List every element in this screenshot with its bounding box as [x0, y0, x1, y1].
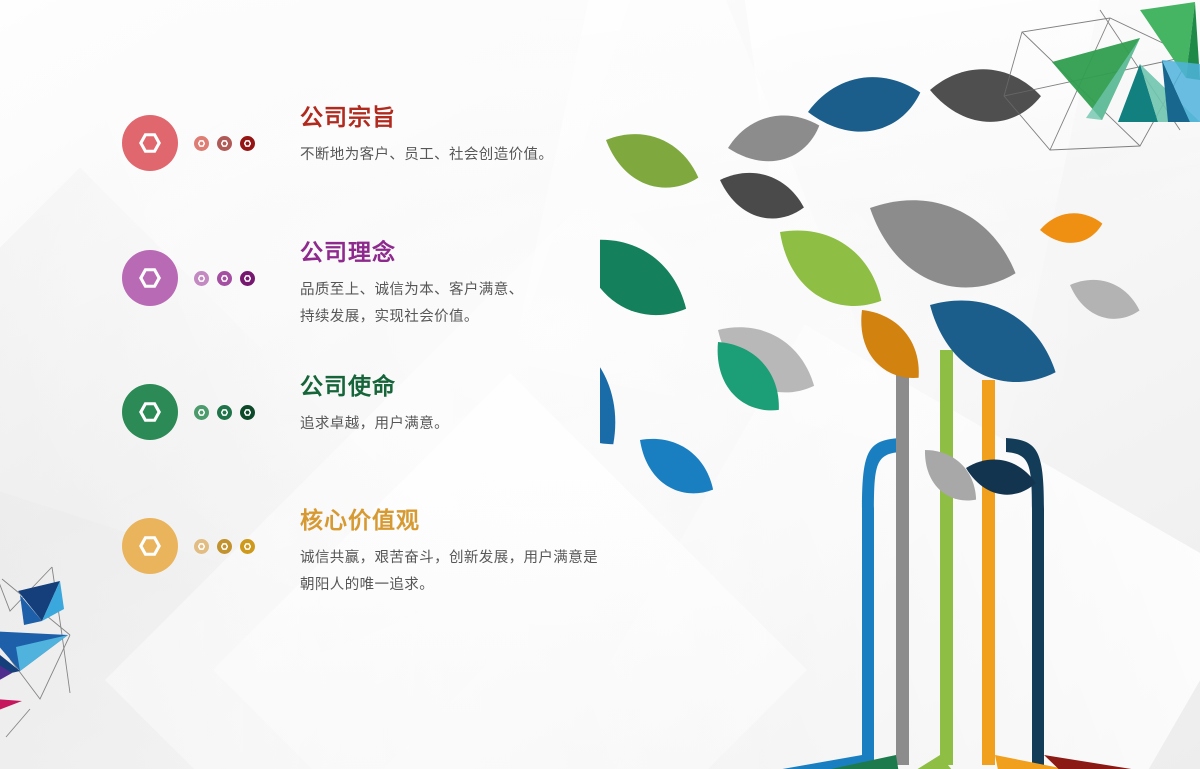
- hexagon-icon-small-1: [194, 136, 209, 151]
- hexagon-icon: [221, 275, 228, 282]
- hexagon-icon-large: [122, 518, 178, 574]
- icon-group-core-values: [122, 511, 263, 581]
- icon-group-company-purpose: [122, 108, 263, 178]
- tree-stems: [720, 350, 1200, 769]
- hexagon-icon-large: [122, 250, 178, 306]
- hexagon-icon-small-2: [217, 136, 232, 151]
- small-dot-row-company-purpose: [194, 136, 263, 151]
- hexagon-icon: [244, 409, 251, 416]
- section-description-line: 持续发展，实现社会价值。: [300, 304, 680, 331]
- section-description-line: 品质至上、诚信为本、客户满意、: [300, 277, 680, 304]
- hexagon-icon: [198, 409, 205, 416]
- hexagon-icon: [244, 275, 251, 282]
- hexagon-icon-small-1: [194, 271, 209, 286]
- section-title: 公司使命: [300, 371, 680, 401]
- section-title: 核心价值观: [300, 505, 680, 535]
- hexagon-icon-small-3: [240, 271, 255, 286]
- icon-group-company-philosophy: [122, 243, 263, 313]
- hexagon-icon: [198, 275, 205, 282]
- sections-list: 公司宗旨 不断地为客户、员工、社会创造价值。: [0, 0, 680, 769]
- hexagon-icon-small-1: [194, 539, 209, 554]
- hexagon-icon: [244, 140, 251, 147]
- small-dot-row-company-philosophy: [194, 271, 263, 286]
- hexagon-icon: [139, 132, 161, 154]
- hexagon-icon-small-2: [217, 539, 232, 554]
- hexagon-icon: [139, 401, 161, 423]
- hexagon-icon-large: [122, 384, 178, 440]
- hexagon-icon: [221, 409, 228, 416]
- hexagon-icon-small-2: [217, 405, 232, 420]
- hexagon-icon-small-3: [240, 405, 255, 420]
- tree-illustration: [600, 20, 1200, 769]
- small-dot-row-core-values: [194, 539, 263, 554]
- hexagon-icon: [198, 140, 205, 147]
- text-block-company-mission: 公司使命 追求卓越，用户满意。: [300, 371, 680, 438]
- section-description-line: 诚信共赢，艰苦奋斗，创新发展，用户满意是: [300, 545, 680, 572]
- hexagon-icon: [221, 543, 228, 550]
- hexagon-icon-large: [122, 115, 178, 171]
- hexagon-icon-small-2: [217, 271, 232, 286]
- icon-group-company-mission: [122, 377, 263, 447]
- section-description-line: 追求卓越，用户满意。: [300, 411, 680, 438]
- hexagon-icon: [198, 543, 205, 550]
- hexagon-icon: [244, 543, 251, 550]
- slide-canvas: 公司宗旨 不断地为客户、员工、社会创造价值。: [0, 0, 1200, 769]
- section-description-line: 不断地为客户、员工、社会创造价值。: [300, 142, 680, 169]
- section-title: 公司理念: [300, 237, 680, 267]
- hexagon-icon-small-1: [194, 405, 209, 420]
- hexagon-icon-small-3: [240, 136, 255, 151]
- small-dot-row-company-mission: [194, 405, 263, 420]
- section-description-line: 朝阳人的唯一追求。: [300, 572, 680, 599]
- section-title: 公司宗旨: [300, 102, 680, 132]
- hexagon-icon: [221, 140, 228, 147]
- text-block-company-philosophy: 公司理念 品质至上、诚信为本、客户满意、 持续发展，实现社会价值。: [300, 237, 680, 331]
- text-block-company-purpose: 公司宗旨 不断地为客户、员工、社会创造价值。: [300, 102, 680, 169]
- hexagon-icon: [139, 535, 161, 557]
- hexagon-icon-small-3: [240, 539, 255, 554]
- text-block-core-values: 核心价值观 诚信共赢，艰苦奋斗，创新发展，用户满意是 朝阳人的唯一追求。: [300, 505, 680, 599]
- hexagon-icon: [139, 267, 161, 289]
